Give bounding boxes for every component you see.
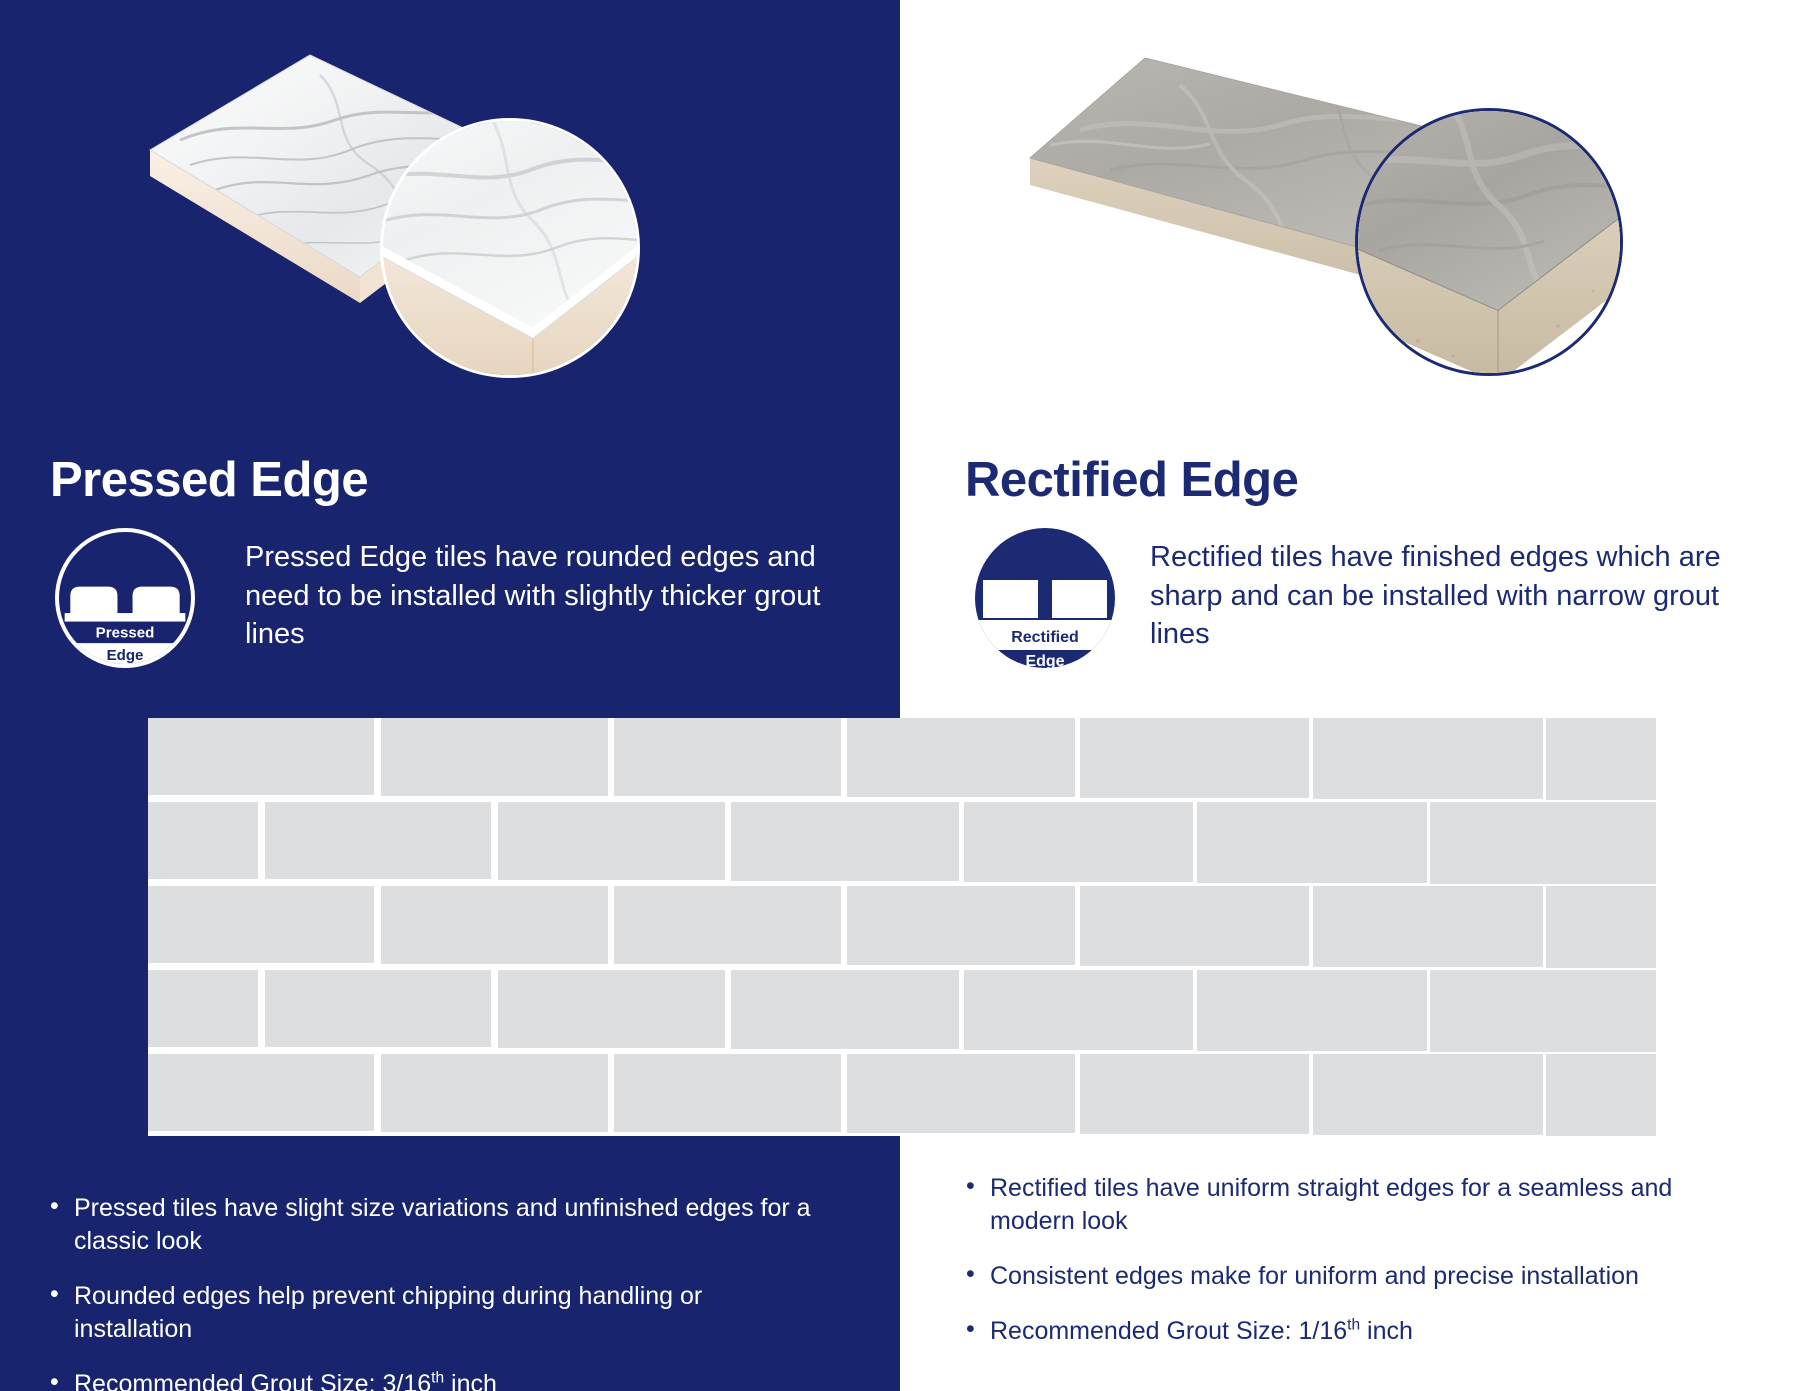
badge-label-line1: Rectified (1011, 629, 1079, 646)
badge-label-line1: Pressed (96, 625, 155, 642)
rectified-edge-heading: Rectified Edge (965, 452, 1298, 508)
tile (1546, 718, 1656, 800)
tile-wall-grid (148, 718, 1658, 1136)
tile (381, 1054, 608, 1132)
rectified-edge-magnifier (1355, 108, 1623, 376)
badge-label-line2: Edge (107, 647, 144, 664)
tile (265, 970, 491, 1047)
tile (964, 970, 1193, 1050)
pressed-edge-magnifier (380, 118, 640, 378)
pressed-edge-heading: Pressed Edge (50, 452, 368, 508)
tile (1313, 886, 1543, 967)
tile (148, 802, 258, 879)
pressed-edge-badge-icon: Pressed Edge (55, 528, 195, 668)
tile (614, 1054, 841, 1132)
infographic-root: Pressed Edge Rectified Edge Pressed Edge… (0, 0, 1800, 1391)
bullet-item: Consistent edges make for uniform and pr… (960, 1260, 1720, 1293)
pressed-edge-bullets: Pressed tiles have slight size variation… (44, 1192, 824, 1391)
rectified-edge-bullets: Rectified tiles have uniform straight ed… (960, 1172, 1720, 1370)
tile (265, 802, 491, 879)
tile (847, 886, 1075, 965)
tile (1546, 1054, 1656, 1136)
tile (614, 886, 841, 964)
tile (964, 802, 1193, 882)
tile (148, 718, 374, 795)
tile (148, 970, 258, 1047)
tile (1197, 970, 1427, 1051)
tile (1313, 718, 1543, 799)
tile-row (148, 802, 1658, 886)
tile (148, 886, 374, 963)
rectified-edge-badge-icon: Rectified Edge (975, 528, 1115, 668)
rectified-edge-description: Rectified tiles have finished edges whic… (1150, 538, 1770, 654)
tile (1080, 718, 1309, 798)
tile-row (148, 970, 1658, 1054)
tile (1430, 970, 1656, 1052)
bullet-item: Rectified tiles have uniform straight ed… (960, 1172, 1720, 1238)
tile-row (148, 1054, 1658, 1136)
tile (381, 886, 608, 964)
bullet-item: Rounded edges help prevent chipping duri… (44, 1280, 824, 1346)
tile (498, 970, 725, 1048)
tile (1546, 886, 1656, 968)
tile-wall-rows (148, 718, 1658, 1136)
tile (847, 1054, 1075, 1133)
pressed-edge-description: Pressed Edge tiles have rounded edges an… (245, 538, 845, 654)
tile (1430, 802, 1656, 884)
bullet-item: Recommended Grout Size: 3/16th inch (44, 1368, 824, 1391)
tile-row (148, 886, 1658, 970)
tile (731, 802, 959, 881)
hero-images (0, 0, 1800, 430)
tile (1080, 1054, 1309, 1134)
tile (1313, 1054, 1543, 1135)
tile-row (148, 718, 1658, 802)
badge-label-line2: Edge (1025, 653, 1064, 668)
tile (148, 1054, 374, 1131)
tile (381, 718, 608, 796)
bullet-item: Recommended Grout Size: 1/16th inch (960, 1315, 1720, 1348)
tile (847, 718, 1075, 797)
tile (614, 718, 841, 796)
bullet-item: Pressed tiles have slight size variation… (44, 1192, 824, 1258)
tile (1080, 886, 1309, 966)
tile (498, 802, 725, 880)
tile (731, 970, 959, 1049)
tile (1197, 802, 1427, 883)
